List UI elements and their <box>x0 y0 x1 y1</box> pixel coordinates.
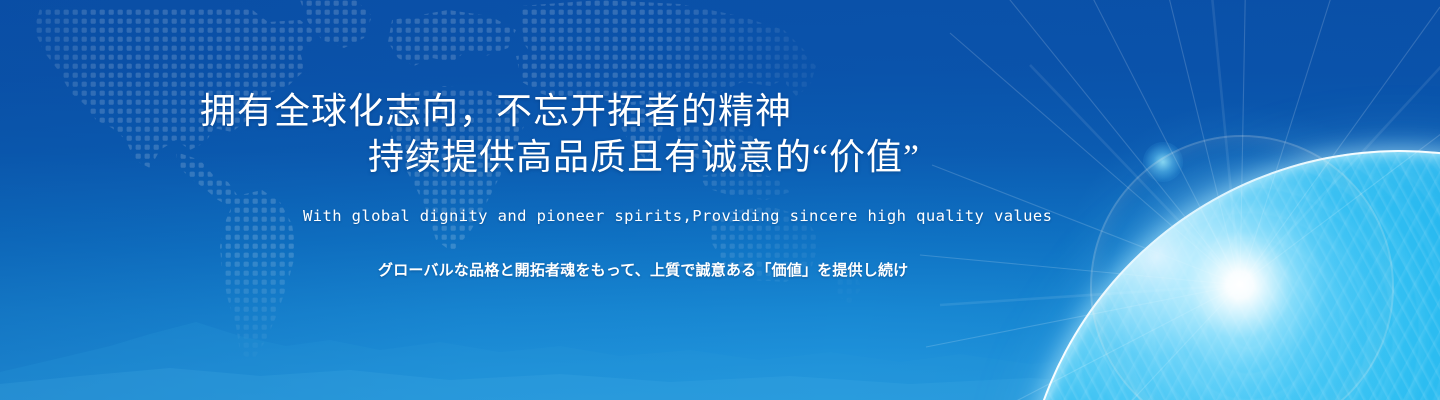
hero-banner: 拥有全球化志向，不忘开拓者的精神 持续提供高品质且有诚意的“价值” With g… <box>0 0 1440 400</box>
sky-gradient-overlay <box>0 0 1440 400</box>
planet-rim-highlight <box>1020 150 1440 400</box>
planet-surface-texture <box>1020 150 1440 400</box>
dotted-world-map <box>0 0 900 400</box>
sun-halo-ring <box>1090 135 1394 400</box>
headline: 拥有全球化志向，不忘开拓者的精神 持续提供高品质且有诚意的“价值” <box>200 88 920 180</box>
subtitle-japanese: グローバルな品格と開拓者魂をもって、上質で誠意ある「価値」を提供し続け <box>378 259 908 280</box>
subtitle-english: With global dignity and pioneer spirits,… <box>303 207 1052 225</box>
sun-rays-icon <box>910 0 1440 400</box>
headline-line-1: 拥有全球化志向，不忘开拓者的精神 <box>200 88 920 134</box>
earth-globe <box>960 0 1440 400</box>
sun-glow <box>1050 95 1430 400</box>
lens-flare-dot <box>1143 142 1183 182</box>
headline-line-2: 持续提供高品质且有诚意的“价值” <box>200 134 920 180</box>
planet-body <box>1020 150 1440 400</box>
banner-copy: 拥有全球化志向，不忘开拓者的精神 持续提供高品质且有诚意的“价值” With g… <box>0 0 1440 400</box>
mountain-silhouette <box>0 280 1440 400</box>
